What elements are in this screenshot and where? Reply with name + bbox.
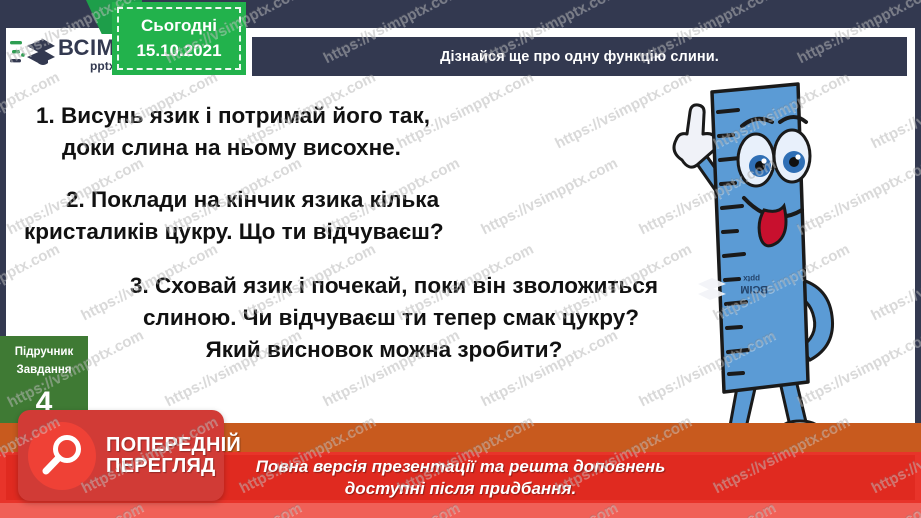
instruction-3-line-2: слиною. Чи відчуваєш ти тепер смак цукру… — [14, 302, 754, 334]
graduation-cap-icon — [10, 34, 56, 74]
brand-wordmark: ВСІМ pptx — [58, 37, 115, 72]
instruction-3-line-1: 3. Сховай язик і почекай, поки він зволо… — [14, 270, 754, 302]
preview-badge-line-2: ПЕРЕГЛЯД — [106, 456, 241, 477]
instruction-paragraph-2: 2. Поклади на кінчик язика кілька криста… — [14, 184, 754, 248]
task-label: Завдання — [0, 361, 88, 379]
preview-badge-line-1: ПОПЕРЕДНІЙ — [106, 435, 241, 456]
date-badge: Сьогодні 15.10.2021 — [112, 2, 246, 75]
brand-suffix: pptx — [58, 60, 115, 72]
ruler-character-illustration: ВСІМ pptx — [672, 82, 862, 438]
instruction-2-line-1: 2. Поклади на кінчик язика кілька — [24, 184, 754, 216]
header-title: Дізнайся ще про одну функцію слини. — [440, 49, 719, 65]
purchase-notice-line-2: доступні після придбання. — [345, 478, 576, 499]
instruction-1-line-2: доки слина на ньому висохне. — [36, 132, 754, 164]
brand-name: ВСІМ — [58, 37, 115, 59]
instruction-paragraph-3: 3. Сховай язик і почекай, поки він зволо… — [14, 270, 754, 366]
slide-header-bar: Дізнайся ще про одну функцію слини. — [252, 37, 907, 76]
instruction-3-line-3: Який висновок можна зробити? — [14, 334, 754, 366]
slide-body-text: 1. Висунь язик і потримай його так, доки… — [14, 100, 754, 378]
instruction-1-line-1: 1. Висунь язик і потримай його так, — [36, 103, 430, 128]
purchase-notice-line-1: Повна версія презентації та решта доповн… — [256, 456, 666, 477]
instruction-paragraph-1: 1. Висунь язик і потримай його так, доки… — [14, 100, 754, 164]
date-badge-label: Сьогодні — [141, 14, 217, 39]
textbook-label: Підручник — [0, 343, 88, 361]
presentation-slide: ВСІМ pptx Дізнайся ще про одну функцію с… — [0, 0, 921, 518]
red-band-soft — [0, 503, 921, 518]
preview-badge[interactable]: ПОПЕРЕДНІЙ ПЕРЕГЛЯД — [18, 410, 224, 501]
svg-text:ВСІМ: ВСІМ — [740, 283, 768, 295]
preview-badge-label: ПОПЕРЕДНІЙ ПЕРЕГЛЯД — [106, 435, 241, 477]
svg-text:pptx: pptx — [743, 274, 760, 283]
magnifier-icon — [28, 422, 96, 490]
date-badge-value: 15.10.2021 — [136, 39, 221, 64]
instruction-2-line-2: кристаликів цукру. Що ти відчуваєш? — [24, 216, 754, 248]
